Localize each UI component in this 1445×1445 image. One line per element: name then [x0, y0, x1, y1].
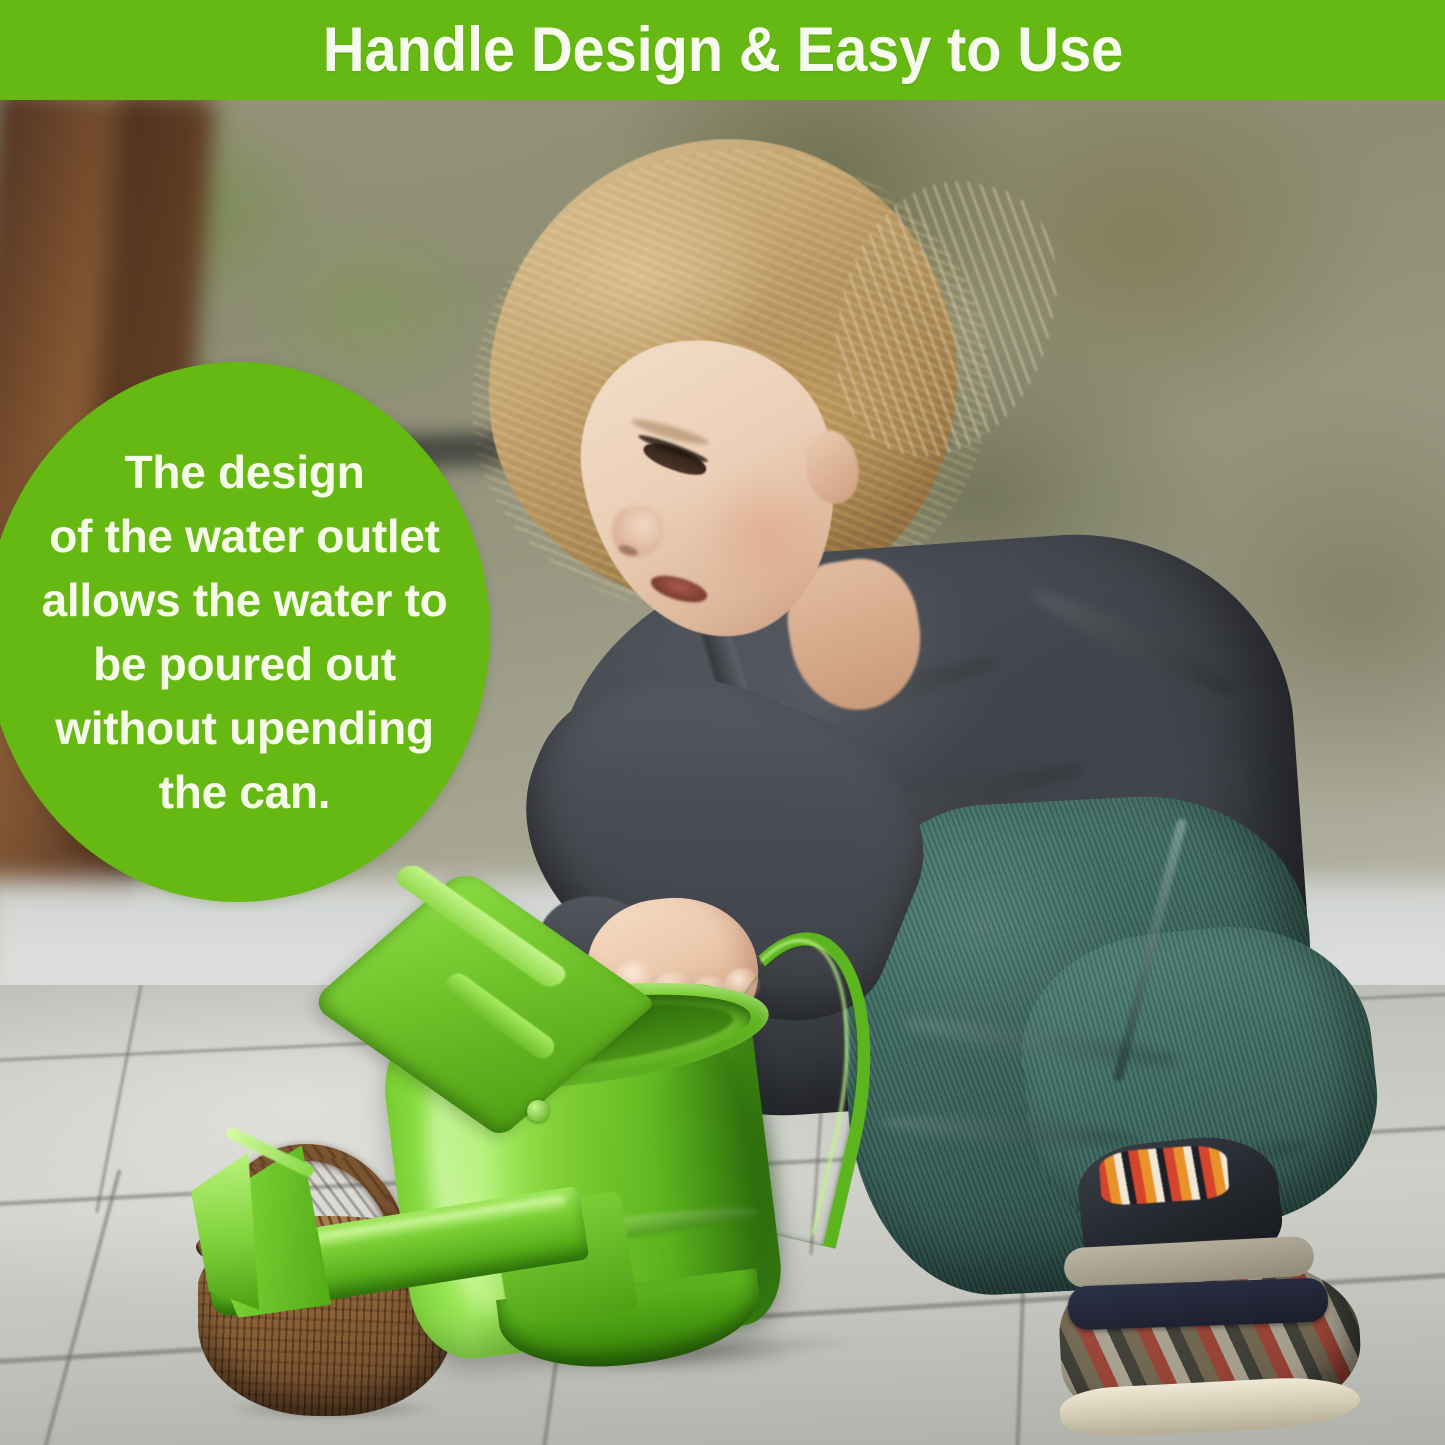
- product-marketing-image: Handle Design & Easy to Use The design o…: [0, 0, 1445, 1445]
- callout-line: be poured out: [17, 632, 473, 696]
- feature-callout-text: The design of the water outlet allows th…: [3, 440, 473, 824]
- callout-line: without upending: [17, 696, 473, 760]
- callout-line: of the water outlet: [17, 504, 473, 568]
- headline-banner: Handle Design & Easy to Use: [0, 0, 1445, 100]
- sprinkler-rose-face: [189, 1152, 260, 1314]
- can-lid-rivet: [527, 1100, 549, 1122]
- headline-text: Handle Design & Easy to Use: [322, 19, 1122, 82]
- callout-line: the can.: [17, 760, 473, 824]
- callout-line: allows the water to: [17, 568, 473, 632]
- feature-callout-circle: The design of the water outlet allows th…: [0, 362, 490, 902]
- callout-line: The design: [17, 440, 473, 504]
